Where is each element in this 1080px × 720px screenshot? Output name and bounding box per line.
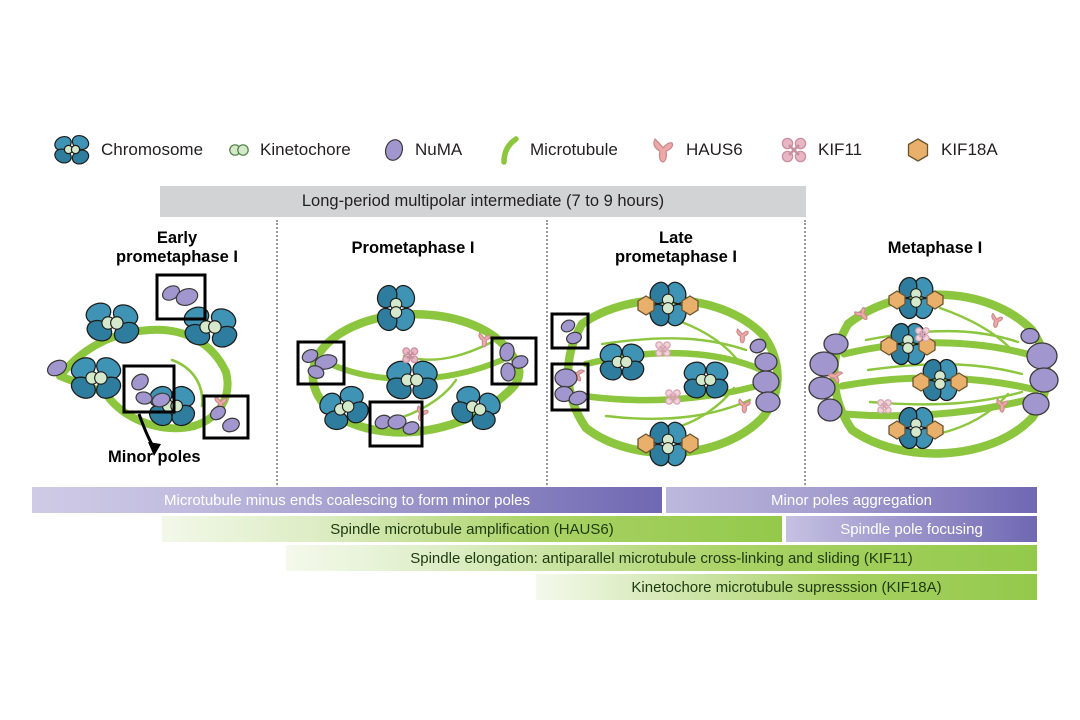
legend-label-haus6: HAUS6 — [686, 140, 743, 160]
kif18a-hexagon-icon — [904, 136, 932, 164]
legend-label-microtubule: Microtubule — [530, 140, 618, 160]
spindle-pole-left — [809, 334, 848, 421]
legend-item-kif11: KIF11 — [779, 135, 904, 165]
panel-title-line2: prometaphase I — [82, 248, 272, 267]
panel-title-early-prometaphase-i: Early prometaphase I — [82, 229, 272, 267]
process-bar-minor-poles-aggregation: Minor poles aggregation — [666, 487, 1037, 513]
kif11-pinwheel-icon — [779, 135, 809, 165]
legend: Chromosome Kinetochore NuMA — [52, 128, 1024, 172]
multipolar-intermediate-band: Long-period multipolar intermediate (7 t… — [160, 186, 806, 217]
panel-title-late-prometaphase-i: Late prometaphase I — [556, 229, 796, 267]
process-bar-label: Kinetochore microtubule supresssion (KIF… — [536, 579, 1037, 596]
process-bar-spindle-elongation: Spindle elongation: antiparallel microtu… — [286, 545, 1037, 571]
legend-item-numa: NuMA — [382, 136, 499, 164]
haus6-y-shape-icon — [649, 134, 677, 166]
legend-item-haus6: HAUS6 — [649, 134, 779, 166]
legend-label-numa: NuMA — [415, 140, 462, 160]
chromosome-bowtie-icon — [597, 341, 647, 384]
haus6-y-shape-icon — [737, 329, 748, 343]
multipolar-intermediate-label: Long-period multipolar intermediate (7 t… — [302, 192, 664, 211]
panel-title-line2: prometaphase I — [556, 248, 796, 267]
panel-title-prometaphase-i: Prometaphase I — [291, 239, 535, 258]
panel-title-metaphase-i: Metaphase I — [815, 239, 1055, 258]
kif11-pinwheel-icon — [878, 400, 891, 413]
process-bar-label: Spindle pole focusing — [786, 521, 1037, 538]
panel-diagram-prometaphase-i — [296, 276, 540, 476]
minor-pole-callout-box — [370, 402, 422, 446]
legend-item-chromosome: Chromosome — [52, 133, 227, 167]
legend-label-kif18a: KIF18A — [941, 140, 998, 160]
process-bar-label: Spindle microtubule amplification (HAUS6… — [162, 521, 782, 538]
panel-title-line1: Prometaphase I — [291, 239, 535, 258]
panel-title-line1: Late — [556, 229, 796, 248]
panel-divider-2 — [546, 220, 548, 485]
microtubule-arc-icon — [499, 135, 521, 165]
panel-diagram-early-prometaphase-i — [44, 268, 284, 478]
legend-label-chromosome: Chromosome — [101, 140, 203, 160]
process-bar-label: Microtubule minus ends coalescing to for… — [32, 492, 662, 509]
process-bar-label: Spindle elongation: antiparallel microtu… — [286, 550, 1037, 567]
process-bar-spindle-microtubule-amplification: Spindle microtubule amplification (HAUS6… — [162, 516, 782, 542]
panel-divider-3 — [804, 220, 806, 485]
haus6-y-shape-icon — [990, 313, 1003, 328]
legend-label-kif11: KIF11 — [818, 140, 862, 160]
panel-diagram-metaphase-i — [818, 268, 1066, 474]
process-bar-label: Minor poles aggregation — [666, 492, 1037, 509]
chromosome-bowtie-icon — [52, 133, 92, 167]
numa-ellipse-icon — [382, 136, 406, 164]
legend-item-kif18a: KIF18A — [904, 136, 1024, 164]
figure-canvas: Chromosome Kinetochore NuMA — [0, 0, 1080, 720]
legend-item-microtubule: Microtubule — [499, 135, 649, 165]
minor-poles-label: Minor poles — [108, 448, 201, 467]
legend-item-kinetochore: Kinetochore — [227, 140, 382, 160]
process-bar-microtubule-minus-ends: Microtubule minus ends coalescing to for… — [32, 487, 662, 513]
kinetochore-double-circle-icon — [227, 140, 251, 160]
process-bar-spindle-pole-focusing: Spindle pole focusing — [786, 516, 1037, 542]
legend-label-kinetochore: Kinetochore — [260, 140, 351, 160]
panel-title-line1: Metaphase I — [815, 239, 1055, 258]
process-bar-kinetochore-microtubule-suppression: Kinetochore microtubule supresssion (KIF… — [536, 574, 1037, 600]
panel-diagram-late-prometaphase-i — [550, 272, 800, 474]
panel-title-line1: Early — [82, 229, 272, 248]
